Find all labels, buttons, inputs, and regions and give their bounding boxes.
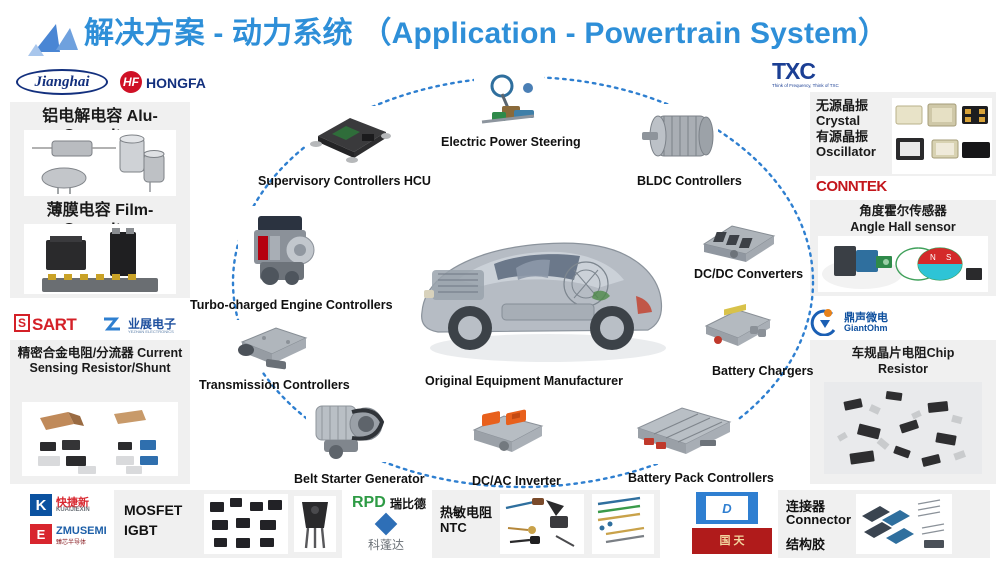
triangles-logo-icon [26,16,84,58]
crystal-label-en: Crystal [816,113,888,128]
label-original-equipment-manufacturer: Original Equipment Manufacturer [425,374,623,388]
brand-row-conntek: CONNTEK [816,176,996,198]
conntek-wordmark: CONNTEK [816,178,887,195]
oscillator-label-en: Oscillator [816,144,888,159]
panel-connector-adhesive: 连接器 Connector 结构胶 [778,490,990,558]
connector-brand-mark-icon: D [696,492,758,524]
brand-row-giantohm: 鼎声微电 GiantOhm [806,306,996,338]
dcac-inverter-photo [466,404,550,464]
slide-canvas: 解决方案 - 动力系统 （Application - Powertrain Sy… [0,0,1000,562]
yezhan-wordmark-en: YEZHAN ELECTRONICS [128,329,174,334]
brand-row-connector: D 国 天 [692,490,780,556]
kuaijiexin-mark-icon: K [30,494,52,516]
connector-label-en: Connector [786,512,851,527]
sart-wordmark: SART [32,315,76,335]
brand-row-txc: TXC Think of Frequency, Think of TXC [816,58,996,90]
igbt-package-photo [294,496,336,552]
chip-resistor-photo [824,382,982,474]
ntc-label-cn: 热敏电阻 [440,502,492,521]
jianghai-logo: Jianghai [16,69,108,95]
panel-capacitors: 铝电解电容 Alu-Capacitor 薄膜电容 Film-Capacitor [10,102,190,298]
label-turbo-charged-engine-controllers: Turbo-charged Engine Controllers [190,298,393,312]
adhesive-label-cn: 结构胶 [786,534,825,553]
current-sensing-resistor-photo [22,402,178,476]
svg-text:S: S [946,253,951,262]
crystal-label-cn: 无源晶振 [816,98,888,113]
rpd-wordmark-cn: 瑞比德 [390,495,426,512]
giantohm-wordmark-en: GiantOhm [844,323,888,333]
yezhan-mark-icon [102,315,124,333]
brand-row-sart-yezhan: S SART 业展电子 YEZHAN ELECTRONICS [10,310,190,340]
connector-parts-photo [856,494,952,554]
sart-mark-icon: S [14,314,30,332]
mosfet-package-photo [204,494,288,554]
brand-row-jianghai-hongfa: Jianghai HF HONGFA [10,64,190,100]
oscillator-label-cn: 有源晶振 [816,129,888,144]
panel-current-sensing-title: 精密合金电阻/分流器 Current Sensing Resistor/Shun… [10,346,190,376]
hall-sensor-title-en: Angle Hall sensor [810,220,996,235]
label-supervisory-controllers-hcu: Supervisory Controllers HCU [258,174,431,188]
kuaijiexin-wordmark-en: KUAIJIEXIN [56,507,90,513]
battery-pack-controller-photo [630,398,738,464]
belt-starter-generator-photo [306,392,392,462]
kepengda-wordmark-cn: 科蓬达 [368,536,404,553]
panel-mosfet-igbt: MOSFET IGBT [114,490,342,558]
chip-resistor-title-cn: 车规晶片电阻Chip [810,346,996,361]
cutaway-car-illustration [398,208,678,368]
page-title: 解决方案 - 动力系统 （Application - Powertrain Sy… [84,8,888,52]
label-bldc-controllers: BLDC Controllers [637,174,742,188]
label-transmission-controllers: Transmission Controllers [199,378,350,392]
label-belt-starter-generator: Belt Starter Generator [294,472,425,486]
igbt-label: IGBT [124,522,157,538]
bldc-controller-photo [640,104,718,170]
panel-hall-sensor: 角度霍尔传感器 Angle Hall sensor N S [810,200,996,296]
label-battery-pack-controllers: Battery Pack Controllers [628,471,774,485]
crystal-oscillator-photo [892,98,992,174]
panel-ntc: 热敏电阻 NTC [432,490,660,558]
battery-charger-photo [698,300,778,356]
rpd-wordmark: RPD [352,494,386,512]
film-capacitor-photo [24,224,176,294]
hall-sensor-photo: N S [818,236,988,292]
brand-row-mosfet: K 快捷新 KUAIJIEXIN E ZMUSEMI 臻芯半导体 [28,492,112,554]
svg-text:N: N [930,253,936,262]
label-dcdc-converters: DC/DC Converters [694,267,803,281]
transmission-controller-photo [232,320,312,372]
zmusemi-wordmark-cn: 臻芯半导体 [56,537,86,546]
zmusemi-wordmark-en: ZMUSEMI [56,525,107,537]
panel-current-sensing: 精密合金电阻/分流器 Current Sensing Resistor/Shun… [10,340,190,484]
adhesive-brand-mark-icon: 国 天 [692,528,772,554]
ntc-sensor-photo [500,494,584,554]
panel-chip-resistor: 车规晶片电阻Chip Resistor [810,340,996,484]
zmusemi-mark-icon: E [30,524,52,544]
ntc-cable-photo [592,494,654,554]
label-battery-chargers: Battery Chargers [712,364,813,378]
brand-row-ntc: RPD 瑞比德 科蓬达 [352,492,438,554]
kepengda-mark-icon [375,513,398,536]
hongfa-mark-icon: HF [120,71,142,93]
mosfet-label: MOSFET [124,502,182,518]
label-dcac-inverter: DC/AC Inverter [472,474,561,488]
chip-resistor-title-en: Resistor [810,362,996,377]
ntc-label-en: NTC [440,520,467,535]
panel-crystal-oscillator: 无源晶振 Crystal 有源晶振 Oscillator [810,92,996,180]
alu-capacitor-photo [24,130,176,196]
turbo-engine-photo [238,206,328,288]
hongfa-wordmark: HONGFA [146,75,206,91]
hcu-module-photo [306,106,392,164]
electric-power-steering-photo [474,74,544,134]
hall-sensor-title-cn: 角度霍尔传感器 [810,204,996,219]
slide-header: 解决方案 - 动力系统 （Application - Powertrain Sy… [0,0,1000,62]
dcdc-converter-photo [694,212,780,268]
label-electric-power-steering: Electric Power Steering [441,135,581,149]
